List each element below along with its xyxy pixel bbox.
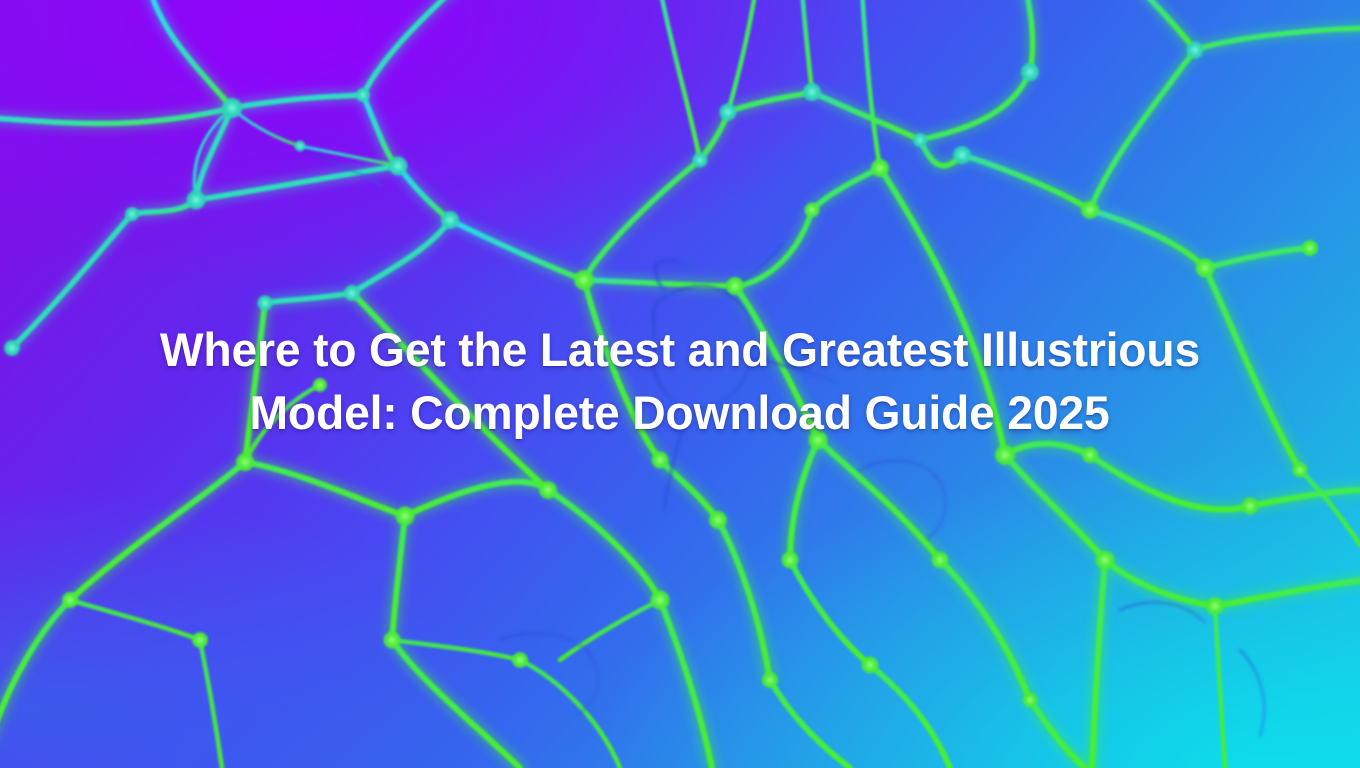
banner-title-line-2: Model: Complete Download Guide 2025	[250, 381, 1110, 444]
banner-title-line-1: Where to Get the Latest and Greatest Ill…	[160, 318, 1200, 381]
banner-title: Where to Get the Latest and Greatest Ill…	[0, 318, 1360, 444]
hero-banner: Where to Get the Latest and Greatest Ill…	[0, 0, 1360, 768]
